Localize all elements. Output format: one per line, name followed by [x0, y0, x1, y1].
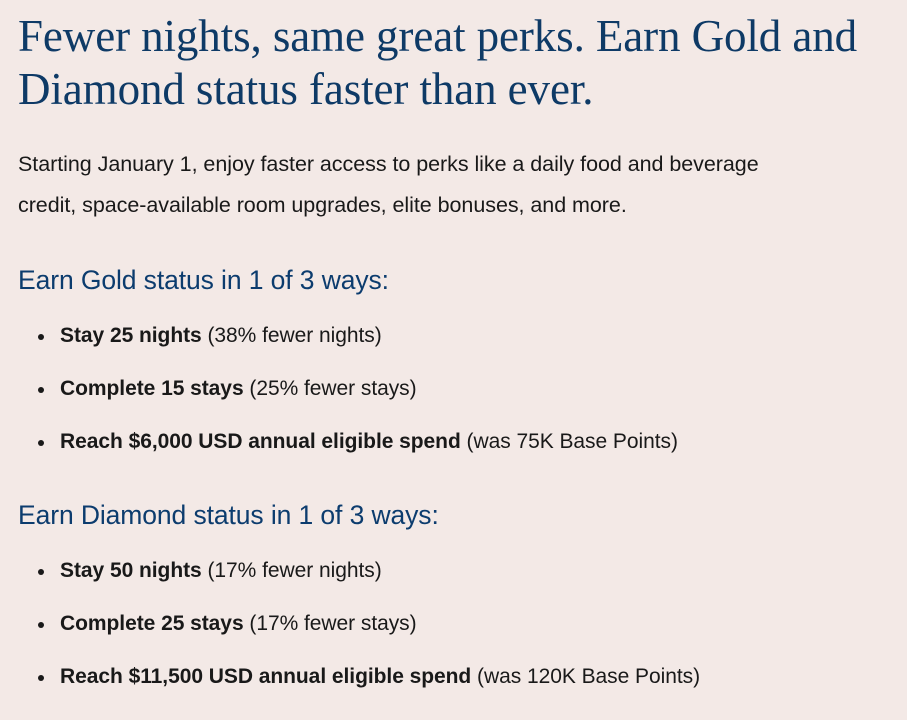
list-item: Stay 25 nights (38% fewer nights): [18, 323, 889, 349]
promo-page: Fewer nights, same great perks. Earn Gol…: [0, 0, 907, 720]
perk-requirement: Complete 25 stays: [60, 612, 244, 635]
perk-note: (17% fewer stays): [249, 612, 416, 635]
perk-requirement: Reach $11,500 USD annual eligible spend: [60, 665, 471, 688]
perk-requirement: Stay 50 nights: [60, 559, 202, 582]
list-item: Stay 50 nights (17% fewer nights): [18, 558, 889, 584]
perk-note: (17% fewer nights): [207, 559, 381, 582]
perk-note: (38% fewer nights): [207, 324, 381, 347]
perk-note: (was 120K Base Points): [477, 665, 700, 688]
perk-requirement: Stay 25 nights: [60, 324, 202, 347]
intro-paragraph: Starting January 1, enjoy faster access …: [18, 116, 818, 226]
diamond-section-heading: Earn Diamond status in 1 of 3 ways:: [18, 455, 889, 531]
page-headline: Fewer nights, same great perks. Earn Gol…: [18, 0, 878, 116]
perk-note: (was 75K Base Points): [467, 430, 678, 453]
perk-requirement: Reach $6,000 USD annual eligible spend: [60, 430, 461, 453]
perk-note: (25% fewer stays): [249, 377, 416, 400]
gold-perk-list: Stay 25 nights (38% fewer nights) Comple…: [18, 323, 889, 455]
list-item: Complete 25 stays (17% fewer stays): [18, 611, 889, 637]
list-item: Reach $11,500 USD annual eligible spend …: [18, 664, 889, 690]
gold-section-heading: Earn Gold status in 1 of 3 ways:: [18, 226, 889, 296]
diamond-perk-list: Stay 50 nights (17% fewer nights) Comple…: [18, 558, 889, 690]
perk-requirement: Complete 15 stays: [60, 377, 244, 400]
list-item: Complete 15 stays (25% fewer stays): [18, 376, 889, 402]
list-item: Reach $6,000 USD annual eligible spend (…: [18, 429, 889, 455]
